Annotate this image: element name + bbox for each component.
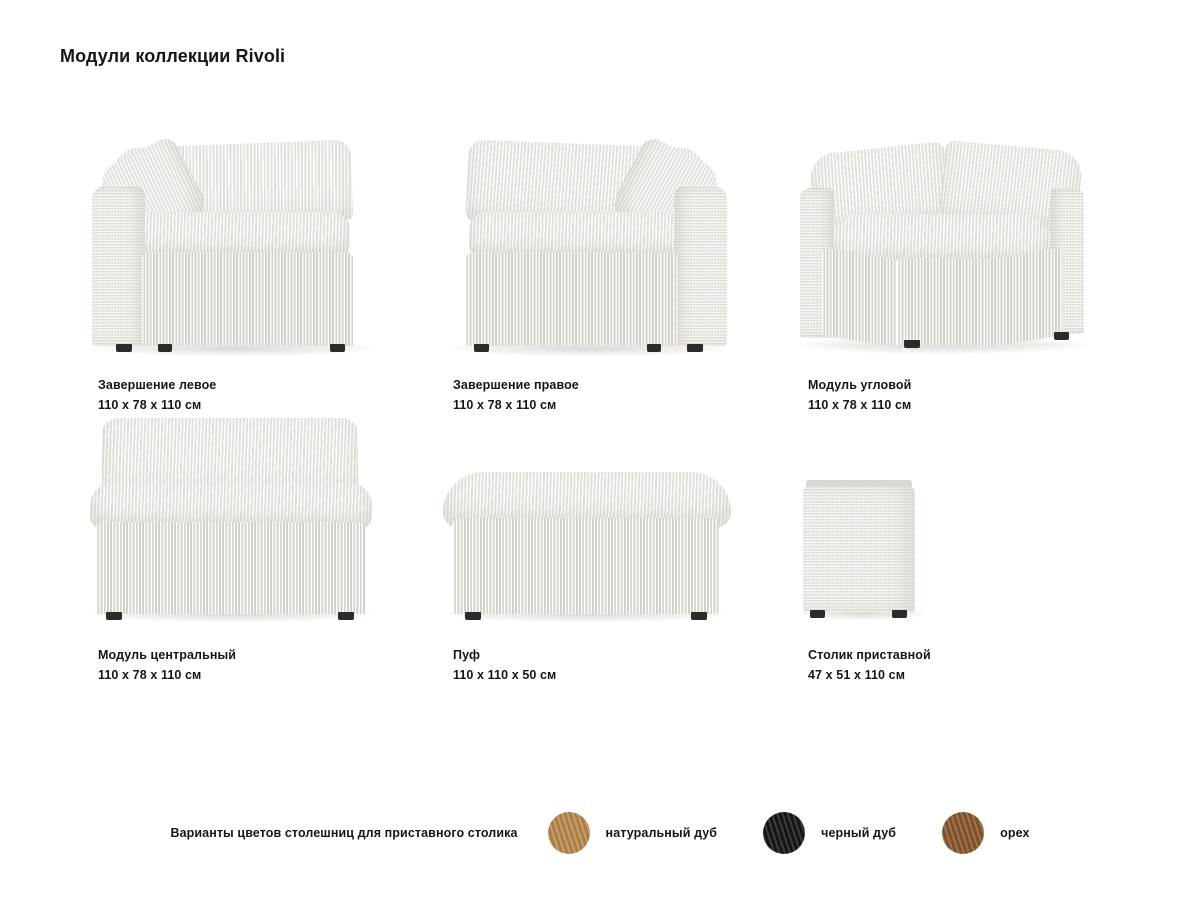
module-caption: Модуль центральный 110 x 78 x 110 см xyxy=(98,646,236,684)
module-dimensions: 110 x 110 x 50 см xyxy=(453,666,556,684)
module-card-right-end[interactable]: Завершение правое 110 x 78 x 110 см xyxy=(415,140,770,410)
module-caption: Завершение левое 110 x 78 x 110 см xyxy=(98,376,216,414)
module-name: Пуф xyxy=(453,646,556,664)
swatch-item-walnut[interactable]: орех xyxy=(942,812,1029,854)
module-dimensions: 47 x 51 x 110 см xyxy=(808,666,931,684)
module-name: Столик приставной xyxy=(808,646,931,664)
module-card-corner[interactable]: Модуль угловой 110 x 78 x 110 см xyxy=(770,140,1125,410)
module-name: Модуль угловой xyxy=(808,376,911,394)
module-dimensions: 110 x 78 x 110 см xyxy=(98,666,236,684)
module-card-left-end[interactable]: Завершение левое 110 x 78 x 110 см xyxy=(60,140,415,410)
module-grid: Завершение левое 110 x 78 x 110 см Завер… xyxy=(60,140,1150,680)
module-name: Завершение левое xyxy=(98,376,216,394)
module-caption: Столик приставной 47 x 51 x 110 см xyxy=(808,646,931,684)
swatch-label: натуральный дуб xyxy=(606,826,718,840)
module-name: Модуль центральный xyxy=(98,646,236,664)
page-title: Модули коллекции Rivoli xyxy=(60,46,285,67)
module-card-center[interactable]: Модуль центральный 110 x 78 x 110 см xyxy=(60,410,415,680)
module-caption: Завершение правое 110 x 78 x 110 см xyxy=(453,376,579,414)
legend-label: Варианты цветов столешниц для приставног… xyxy=(170,826,517,840)
ottoman-icon xyxy=(437,410,737,635)
swatch-label: орех xyxy=(1000,826,1029,840)
module-caption: Модуль угловой 110 x 78 x 110 см xyxy=(808,376,911,414)
module-card-ottoman[interactable]: Пуф 110 x 110 x 50 см xyxy=(415,410,770,680)
black-oak-swatch-icon[interactable] xyxy=(763,812,805,854)
swatch-item-natural-oak[interactable]: натуральный дуб xyxy=(548,812,718,854)
module-caption: Пуф 110 x 110 x 50 см xyxy=(453,646,556,684)
sofa-left-end-icon xyxy=(82,140,382,365)
module-name: Завершение правое xyxy=(453,376,579,394)
sofa-right-end-icon xyxy=(437,140,737,365)
walnut-swatch-icon[interactable] xyxy=(942,812,984,854)
sofa-center-icon xyxy=(82,410,382,635)
sofa-corner-icon xyxy=(792,140,1092,365)
side-table-icon xyxy=(792,410,1092,635)
swatch-item-black-oak[interactable]: черный дуб xyxy=(763,812,896,854)
module-card-side-table[interactable]: Столик приставной 47 x 51 x 110 см xyxy=(770,410,1125,680)
natural-oak-swatch-icon[interactable] xyxy=(548,812,590,854)
tabletop-color-legend: Варианты цветов столешниц для приставног… xyxy=(0,812,1200,854)
swatch-label: черный дуб xyxy=(821,826,896,840)
